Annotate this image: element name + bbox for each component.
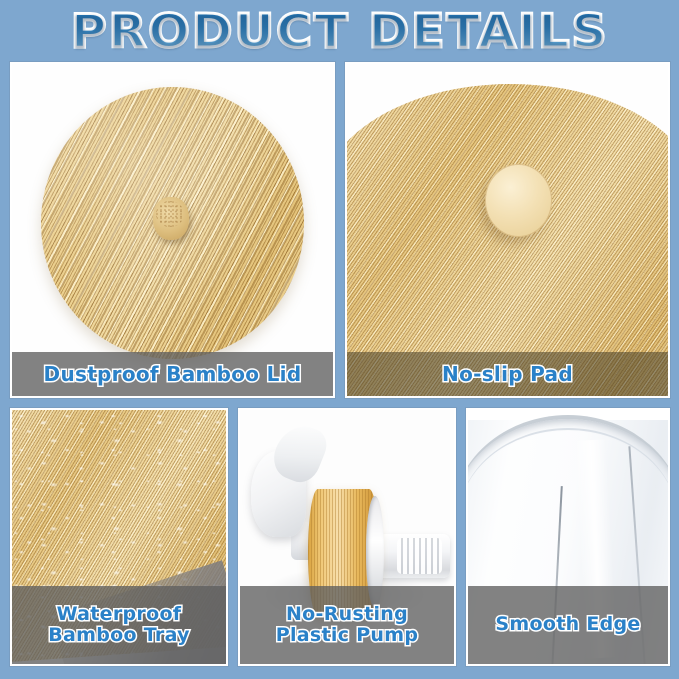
panel-no-rusting-plastic-pump[interactable]: No-Rusting Plastic Pump xyxy=(238,408,456,666)
caption-label: No-slip Pad xyxy=(442,363,573,385)
panel-waterproof-bamboo-tray[interactable]: Waterproof Bamboo Tray xyxy=(10,408,228,666)
caption-smooth-edge: Smooth Edge xyxy=(468,586,668,664)
caption-no-rusting-plastic-pump: No-Rusting Plastic Pump xyxy=(240,586,454,664)
caption-label-line1: No-Rusting xyxy=(286,604,408,625)
panel-no-slip-pad[interactable]: No-slip Pad xyxy=(345,62,670,398)
bamboo-lid-knob-image xyxy=(153,197,188,240)
caption-label: Dustproof Bamboo Lid xyxy=(44,363,302,385)
caption-waterproof-bamboo-tray: Waterproof Bamboo Tray xyxy=(12,586,226,664)
panel-smooth-edge[interactable]: Smooth Edge xyxy=(466,408,670,666)
caption-label-line1: Smooth Edge xyxy=(495,614,640,635)
caption-label-line2: Plastic Pump xyxy=(276,625,419,646)
caption-label-line2: Bamboo Tray xyxy=(48,625,190,646)
no-slip-pad-circle-image xyxy=(485,164,552,237)
caption-dustproof-bamboo-lid: Dustproof Bamboo Lid xyxy=(12,352,333,396)
title-bar: PRODUCT DETAILS xyxy=(0,0,679,62)
caption-label-line1: Waterproof xyxy=(57,604,182,625)
panel-dustproof-bamboo-lid[interactable]: Dustproof Bamboo Lid xyxy=(10,62,335,398)
bamboo-surface-image xyxy=(347,84,668,396)
caption-no-slip-pad: No-slip Pad xyxy=(347,352,668,396)
photo-dustproof-bamboo-lid xyxy=(12,64,333,396)
product-detail-grid: Dustproof Bamboo Lid No-slip Pad Waterpr… xyxy=(0,60,679,679)
page-title: PRODUCT DETAILS xyxy=(71,8,609,54)
photo-no-slip-pad xyxy=(347,64,668,396)
